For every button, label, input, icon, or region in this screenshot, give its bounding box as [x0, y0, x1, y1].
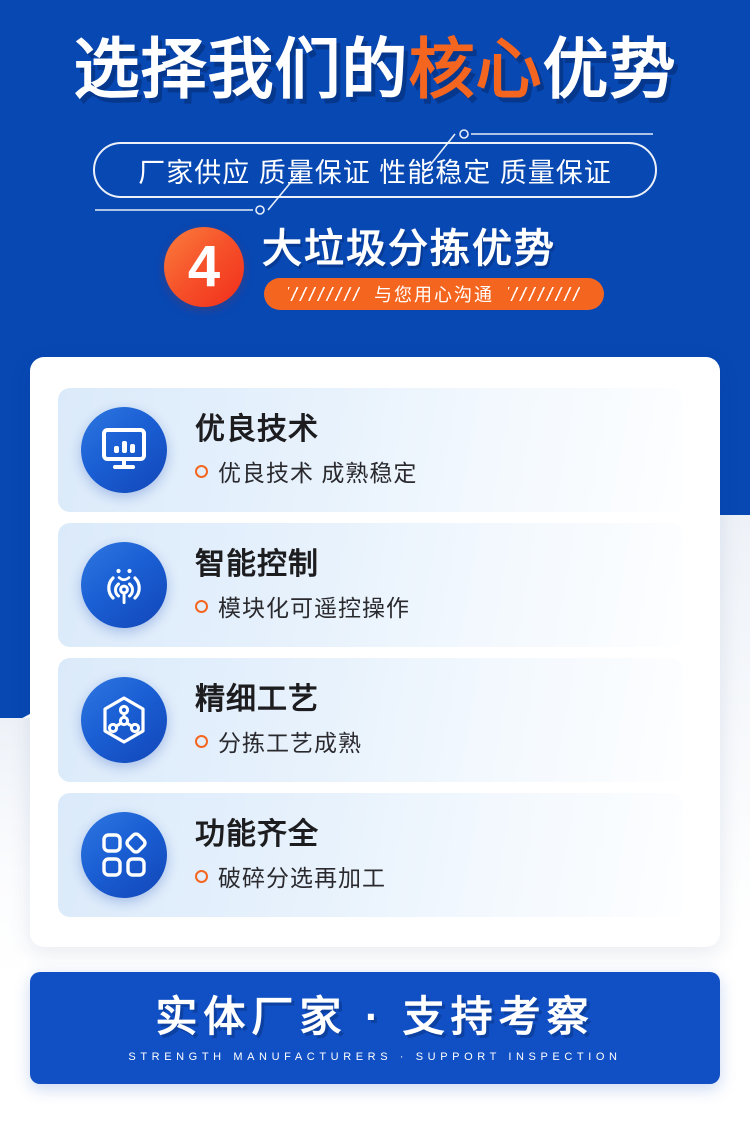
hatch-left-icon [288, 287, 360, 301]
bullet-ring-icon [195, 465, 208, 478]
subtitle-group: 厂家供应 质量保证 性能稳定 质量保证 [93, 142, 657, 198]
feature-card-desc-row: 破碎分选再加工 [195, 859, 386, 893]
page-title-part2: 优势 [543, 32, 677, 106]
feature-card[interactable]: 优良技术 优良技术 成熟稳定 [58, 388, 683, 512]
section-tagline: 与您用心沟通 [374, 281, 494, 307]
hatch-right-icon [508, 287, 580, 301]
feature-card-title: 优良技术 [195, 412, 417, 448]
feature-card-title: 精细工艺 [195, 682, 362, 718]
bullet-ring-icon [195, 735, 208, 748]
feature-card-list: 优良技术 优良技术 成熟稳定 [58, 388, 683, 917]
feature-card-text: 功能齐全 破碎分选再加工 [195, 817, 386, 893]
section-number-badge: 4 [164, 227, 244, 307]
feature-card-desc: 破碎分选再加工 [218, 859, 386, 893]
monitor-chart-icon [81, 407, 167, 493]
feature-card-title: 功能齐全 [195, 817, 386, 853]
footer-banner: 实体厂家 · 支持考察 STRENGTH MANUFACTURERS · SUP… [30, 972, 720, 1084]
section-number: 4 [188, 238, 220, 296]
page-title: 选择我们的核心优势 [0, 36, 750, 102]
grid-shapes-icon [81, 812, 167, 898]
section-title: 大垃圾分拣优势 [262, 226, 556, 272]
feature-card-text: 智能控制 模块化可遥控操作 [195, 547, 410, 623]
poster-root: 选择我们的核心优势 厂家供应 质量保证 性能稳定 质量保证 4 大垃圾分拣优势 … [0, 0, 750, 1131]
feature-card[interactable]: 智能控制 模块化可遥控操作 [58, 523, 683, 647]
feature-card-desc-row: 优良技术 成熟稳定 [195, 454, 417, 488]
bullet-ring-icon [195, 600, 208, 613]
page-title-part1: 选择我们的 [74, 32, 409, 106]
feature-card-desc-row: 分拣工艺成熟 [195, 724, 362, 758]
feature-card[interactable]: 功能齐全 破碎分选再加工 [58, 793, 683, 917]
footer-title-cn: 实体厂家 · 支持考察 [155, 993, 594, 1041]
bullet-ring-icon [195, 870, 208, 883]
feature-card-text: 优良技术 优良技术 成熟稳定 [195, 412, 417, 488]
wireless-signal-icon [81, 542, 167, 628]
page-title-accent: 核心 [409, 32, 543, 106]
subtitle-text: 厂家供应 质量保证 性能稳定 质量保证 [138, 151, 612, 190]
feature-card-title: 智能控制 [195, 547, 410, 583]
feature-card-text: 精细工艺 分拣工艺成熟 [195, 682, 362, 758]
feature-card-desc-row: 模块化可遥控操作 [195, 589, 410, 623]
feature-card[interactable]: 精细工艺 分拣工艺成熟 [58, 658, 683, 782]
section-tagline-pill: 与您用心沟通 [264, 278, 604, 310]
feature-card-desc: 优良技术 成熟稳定 [218, 454, 417, 488]
footer-title-en: STRENGTH MANUFACTURERS · SUPPORT INSPECT… [128, 1051, 621, 1063]
feature-card-desc: 分拣工艺成熟 [218, 724, 362, 758]
subtitle-pill: 厂家供应 质量保证 性能稳定 质量保证 [93, 142, 657, 198]
feature-card-desc: 模块化可遥控操作 [218, 589, 410, 623]
hexagon-network-icon [81, 677, 167, 763]
